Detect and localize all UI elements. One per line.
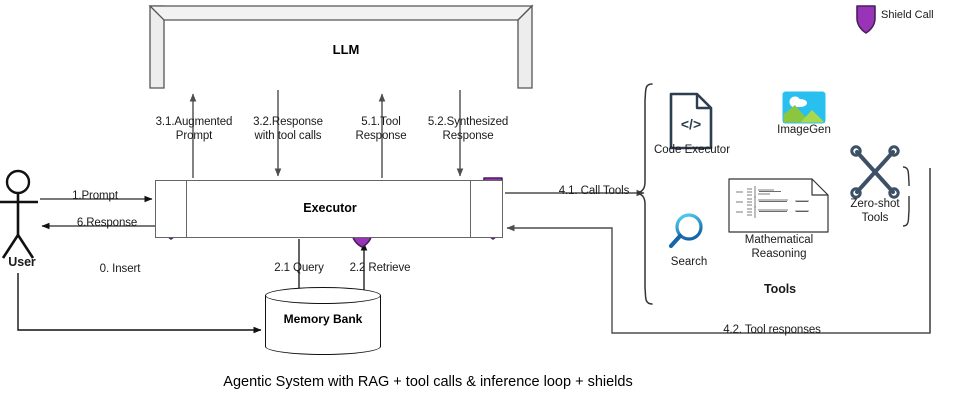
edge-label-augmented-prompt: 3.1.Augmented Prompt — [140, 116, 248, 143]
image-photo-icon-shape — [783, 92, 825, 123]
edge-label-prompt: 1.Prompt — [40, 190, 150, 204]
shield-icon-legend — [857, 6, 875, 33]
executor-label: Executor — [156, 201, 504, 215]
edge-label-response-tool-calls: 3.2.Response with tool calls — [233, 116, 343, 143]
tool-label-code-executor[interactable]: Code Executor — [646, 144, 738, 158]
memory-bank-label: Memory Bank — [265, 312, 381, 326]
edge-label-tool-responses: 4.2. Tool responses — [672, 324, 872, 338]
tool-label-zero-shot-tools[interactable]: Zero-shot Tools — [841, 198, 909, 225]
llm-label: LLM — [162, 42, 530, 57]
formula-document-icon-shape — [729, 179, 828, 232]
tool-label-math-reasoning[interactable]: Mathematical Reasoning — [727, 234, 831, 261]
edge-label-insert: 0. Insert — [0, 263, 250, 277]
svg-text:</>: </> — [681, 116, 701, 132]
diagram-caption: Agentic System with RAG + tool calls & i… — [0, 374, 856, 390]
tool-label-imagegen[interactable]: ImageGen — [766, 124, 842, 138]
llm-node[interactable]: LLM — [150, 6, 532, 88]
executor-node[interactable]: Executor — [155, 180, 503, 238]
crossed-wrenches-icon-shape — [852, 147, 898, 197]
edge-label-response: 6.Response — [52, 217, 162, 231]
diagram-canvas: </> — [0, 0, 970, 411]
user-figure-shape — [0, 171, 38, 258]
code-document-icon-shape: </> — [671, 94, 711, 148]
tool-label-search[interactable]: Search — [660, 256, 718, 270]
edge-label-retrieve: 2.2 Retrieve — [330, 262, 430, 276]
edge-label-tool-response: 5.1.Tool Response — [337, 116, 425, 143]
edge-label-synthesized-response: 5.2.Synthesized Response — [414, 116, 522, 143]
edge-label-call-tools: 4.1. Call Tools — [540, 185, 648, 199]
tools-group-label: Tools — [735, 283, 825, 297]
cylinder-top — [265, 287, 381, 304]
memory-bank-node[interactable]: Memory Bank — [265, 287, 381, 355]
magnifier-icon-shape — [671, 215, 701, 246]
legend-label: Shield Call — [881, 9, 934, 21]
